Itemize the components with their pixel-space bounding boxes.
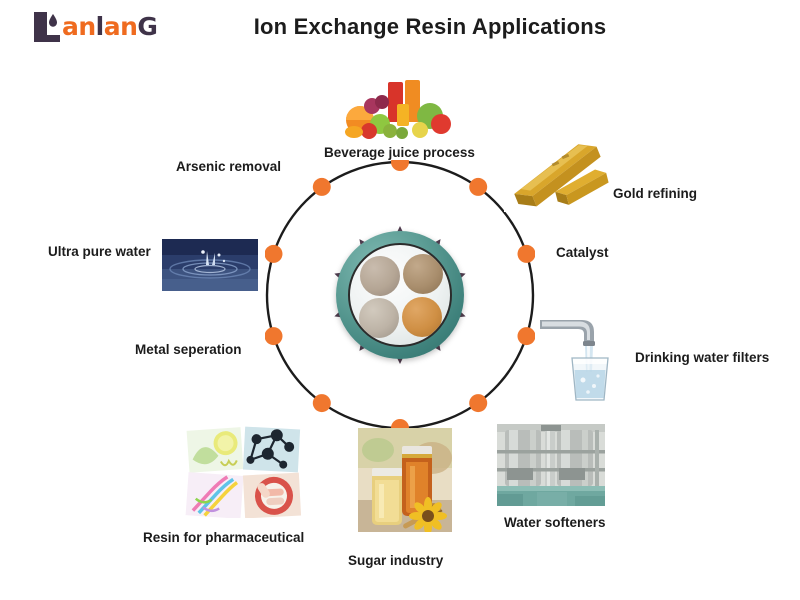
node-ultra-pure-water[interactable] bbox=[265, 245, 283, 263]
label-drinking-water-filters[interactable]: Drinking water filters bbox=[635, 350, 769, 366]
node-catalyst[interactable] bbox=[518, 245, 536, 263]
fruit-juice-image bbox=[342, 76, 454, 142]
node-drinking-water-filters[interactable] bbox=[518, 327, 536, 345]
resin-bead-1 bbox=[360, 256, 400, 296]
label-arsenic-removal[interactable]: Arsenic removal bbox=[176, 159, 281, 175]
honey-jars-image bbox=[358, 428, 452, 532]
label-water-softeners[interactable]: Water softeners bbox=[504, 515, 606, 531]
label-ultra-pure-water[interactable]: Ultra pure water bbox=[48, 244, 151, 260]
infographic-canvas: anlanG Ion Exchange Resin Applications bbox=[0, 0, 800, 600]
node-metal-seperation[interactable] bbox=[265, 327, 283, 345]
node-resin-for-pharmaceutical[interactable] bbox=[313, 394, 331, 412]
label-sugar-industry[interactable]: Sugar industry bbox=[348, 553, 443, 569]
label-catalyst[interactable]: Catalyst bbox=[556, 245, 609, 261]
faucet-glass-image bbox=[538, 310, 626, 404]
resin-hub bbox=[336, 231, 464, 359]
label-metal-seperation[interactable]: Metal seperation bbox=[135, 342, 242, 358]
gold-bars-image bbox=[504, 136, 612, 212]
node-gold-refining[interactable] bbox=[469, 178, 487, 196]
resin-bead-2 bbox=[403, 254, 443, 294]
resin-bead-3 bbox=[359, 298, 399, 338]
resin-dish bbox=[348, 243, 452, 347]
node-arsenic-removal[interactable] bbox=[313, 178, 331, 196]
water-droplet-image bbox=[162, 239, 258, 291]
page-title: Ion Exchange Resin Applications bbox=[0, 14, 800, 40]
water-softener-tanks-image bbox=[497, 424, 605, 506]
label-resin-for-pharmaceutical[interactable]: Resin for pharmaceutical bbox=[143, 530, 304, 546]
node-water-softeners[interactable] bbox=[469, 394, 487, 412]
label-gold-refining[interactable]: Gold refining bbox=[613, 186, 697, 202]
node-beverage-juice-process[interactable] bbox=[391, 160, 409, 171]
resin-bead-4 bbox=[402, 297, 442, 337]
label-beverage-juice-process[interactable]: Beverage juice process bbox=[324, 145, 475, 161]
pharmaceutical-collage-image bbox=[184, 426, 302, 518]
